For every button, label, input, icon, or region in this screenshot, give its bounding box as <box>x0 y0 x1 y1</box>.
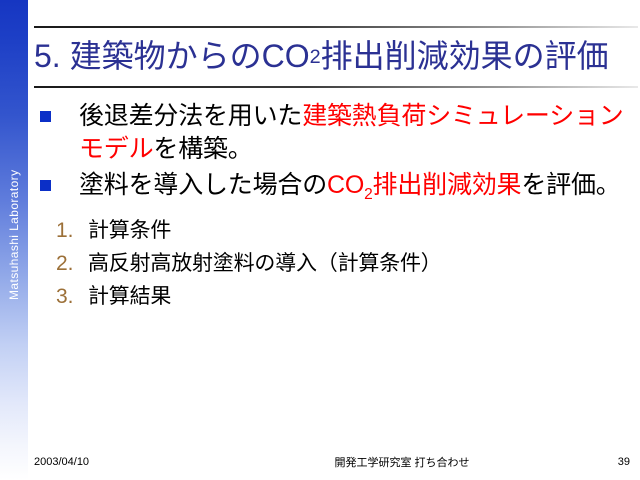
bullet-segment-formula-sub: 2 <box>364 186 372 203</box>
page-title-suffix: 排出削減効果の評価 <box>321 40 609 74</box>
bullet-segment-plain-tail: を構築。 <box>153 135 252 163</box>
title-rule-top <box>34 26 638 28</box>
title-rule-bottom <box>34 86 638 88</box>
slide-canvas: Matsuhashi Laboratory 5. 建築物からのCO2排出削減効果… <box>0 0 640 480</box>
slide-body: 後退差分法を用いた建築熱負荷シミュレーションモデルを構築。 塗料を導入した場合の… <box>34 100 634 319</box>
bullet-item: 後退差分法を用いた建築熱負荷シミュレーションモデルを構築。 <box>34 100 634 165</box>
page-title-formula-main: CO <box>262 40 310 74</box>
sidebar-lab-name: Matsuhashi Laboratory <box>0 0 28 300</box>
footer-page-number: 39 <box>570 456 630 468</box>
page-title-prefix: 5. 建築物からの <box>34 40 262 74</box>
list-item-label: 高反射高放射塗料の導入（計算条件） <box>88 252 634 276</box>
bullet-segment-plain: 塗料を導入した場合の <box>79 171 327 199</box>
list-item-label: 計算条件 <box>88 219 634 243</box>
bullet-segment-plain: 後退差分法を用いた <box>79 102 302 130</box>
list-item-number: 2. <box>56 252 88 276</box>
bullet-segment-formula-main: CO <box>327 171 364 199</box>
page-title-formula-sub: 2 <box>310 47 321 68</box>
bullet-item-text: 後退差分法を用いた建築熱負荷シミュレーションモデルを構築。 <box>79 100 634 165</box>
bullet-segment-plain-tail: を評価。 <box>521 171 620 199</box>
bullet-item: 塗料を導入した場合のCO2排出削減効果を評価。 <box>34 169 634 205</box>
list-item: 3. 計算結果 <box>56 285 634 309</box>
bullet-segment-highlight: 排出削減効果 <box>373 171 522 199</box>
list-item-number: 1. <box>56 219 88 243</box>
bullet-item-text: 塗料を導入した場合のCO2排出削減効果を評価。 <box>79 169 634 205</box>
square-bullet-icon <box>40 180 51 191</box>
square-bullet-icon <box>40 111 51 122</box>
sidebar-gradient-bar: Matsuhashi Laboratory <box>0 0 28 480</box>
list-item-label: 計算結果 <box>88 285 634 309</box>
footer-date: 2003/04/10 <box>34 456 234 468</box>
numbered-list: 1. 計算条件 2. 高反射高放射塗料の導入（計算条件） 3. 計算結果 <box>56 219 634 309</box>
slide-footer: 2003/04/10 開発工学研究室 打ち合わせ 39 <box>34 452 630 472</box>
list-item-number: 3. <box>56 285 88 309</box>
footer-center-text: 開発工学研究室 打ち合わせ <box>234 454 570 470</box>
list-item: 2. 高反射高放射塗料の導入（計算条件） <box>56 252 634 276</box>
list-item: 1. 計算条件 <box>56 219 634 243</box>
page-title: 5. 建築物からのCO2排出削減効果の評価 <box>34 30 640 84</box>
